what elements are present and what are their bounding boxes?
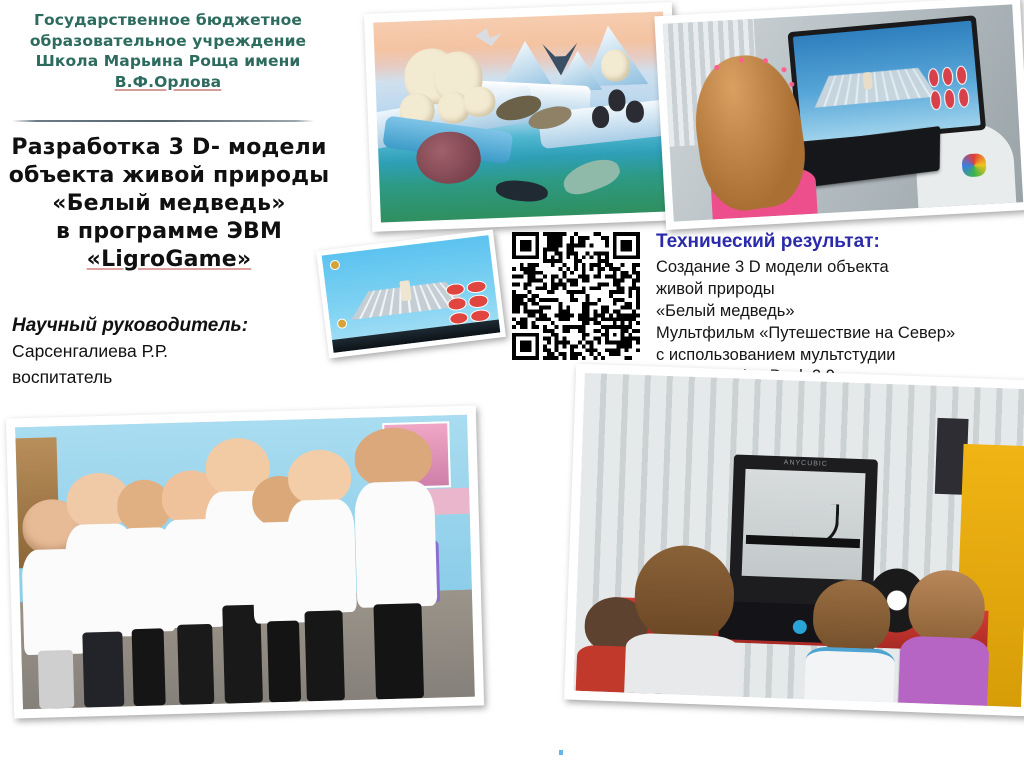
arctic-illustration-photo	[364, 2, 680, 232]
supervisor-post: воспитатель	[12, 365, 342, 390]
supervisor-block: Научный руководитель: Сарсенгалиева Р.Р.…	[12, 312, 342, 390]
supervisor-name: Сарсенгалиева Р.Р.	[12, 339, 342, 364]
children-group-image	[15, 415, 475, 710]
result-line-3: «Белый медведь»	[656, 301, 1024, 323]
presentation-slide: Государственное бюджетное образовательно…	[0, 0, 1024, 768]
children-3d-printer-image: ANYCUBIC	[573, 373, 1024, 707]
organization-line-1: Государственное бюджетное	[8, 10, 328, 31]
result-line-2: живой природы	[656, 279, 1024, 301]
blue-artifact-speck	[559, 750, 563, 755]
arctic-illustration-image	[373, 12, 670, 223]
header-divider	[12, 120, 314, 122]
girl-at-computer-image	[663, 4, 1024, 221]
girl-at-computer-photo	[654, 0, 1024, 230]
ligrogame-screenshot	[316, 230, 506, 359]
supervisor-role-label: Научный руководитель:	[12, 312, 342, 339]
technical-result-heading: Технический результат:	[656, 230, 1024, 254]
title-line-2: объекта живой природы	[4, 162, 334, 190]
result-line-1: Создание 3 D модели объекта	[656, 257, 1024, 279]
organization-line-4: В.Ф.Орлова	[8, 72, 328, 93]
children-3d-printer-photo: ANYCUBIC	[564, 364, 1024, 717]
title-line-4: в программе ЭВМ	[4, 218, 334, 246]
qr-code[interactable]	[512, 232, 640, 360]
title-line-1: Разработка 3 D- модели	[4, 134, 334, 162]
qr-code-canvas[interactable]	[512, 232, 640, 360]
page-title: Разработка 3 D- модели объекта живой при…	[4, 134, 334, 274]
result-line-4: Мультфильм «Путешествие на Север»	[656, 323, 1024, 345]
organization-header: Государственное бюджетное образовательно…	[8, 10, 328, 92]
title-line-5: «LigroGame»	[4, 246, 334, 274]
organization-line-3: Школа Марьина Роща имени	[8, 51, 328, 72]
ligrogame-screenshot-image	[322, 235, 501, 353]
organization-line-2: образовательное учреждение	[8, 31, 328, 52]
technical-result-block: Технический результат: Создание 3 D моде…	[656, 230, 1024, 388]
result-line-5: с использованием мультстудии	[656, 345, 1024, 367]
title-line-3: «Белый медведь»	[4, 190, 334, 218]
printer-brand-label: ANYCUBIC	[784, 460, 828, 469]
children-group-photo	[6, 405, 484, 718]
